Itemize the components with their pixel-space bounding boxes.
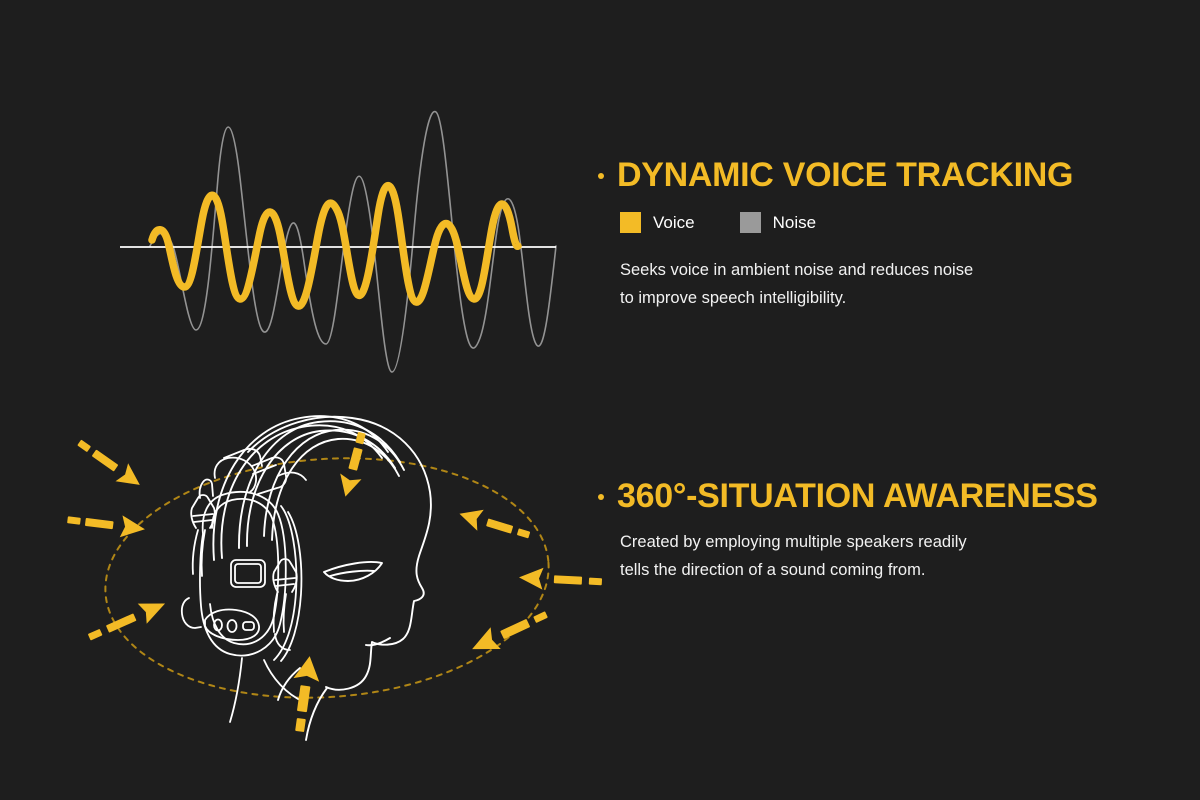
voice-wave [152,186,518,306]
legend-item-voice: Voice [620,212,695,233]
headset-headband [213,416,404,560]
bullet-dot-icon [598,173,604,179]
legend-label-voice: Voice [653,214,695,231]
voice-swatch-icon [620,212,641,233]
arrow-lower-left [85,593,170,647]
bullet-dot-icon [598,494,604,500]
feature-dynamic-voice-tracking: DYNAMIC VOICE TRACKING Voice Noise Seeks… [598,158,1158,312]
feature-2-title: 360°-SITUATION AWARENESS [617,479,1098,513]
feature-2-heading-row: 360°-SITUATION AWARENESS [598,479,1158,513]
legend-label-noise: Noise [773,214,816,231]
headset-360-illustration [0,0,1200,800]
arrow-left-upper [66,509,146,540]
arrow-top-left [73,433,146,493]
arrow-upper-right [456,503,532,545]
noise-swatch-icon [740,212,761,233]
legend-item-noise: Noise [740,212,816,233]
orbit-ellipse [97,444,557,712]
arrow-top [335,430,373,499]
feature-2-description-line-1: Created by employing multiple speakers r… [620,529,1158,557]
feature-1-heading-row: DYNAMIC VOICE TRACKING [598,158,1158,192]
feature-1-description-line-2: to improve speech intelligibility. [620,285,1158,313]
feature-1-description: Seeks voice in ambient noise and reduces… [620,257,1158,312]
arrow-right [518,566,602,592]
feature-1-description-line-1: Seeks voice in ambient noise and reduces… [620,257,1158,285]
feature-1-title: DYNAMIC VOICE TRACKING [617,158,1073,192]
noise-wave [150,112,556,372]
headset-earcup [182,449,306,722]
direction-arrows [66,430,602,733]
waveform-legend: Voice Noise [620,212,1158,233]
head-profile-outline [248,417,431,740]
feature-360-situation-awareness: 360°-SITUATION AWARENESS Created by empl… [598,479,1158,584]
waveform-illustration [0,0,1200,800]
feature-2-description-line-2: tells the direction of a sound coming fr… [620,557,1158,585]
arrow-lower-right [467,604,551,660]
infographic-page: DYNAMIC VOICE TRACKING Voice Noise Seeks… [0,0,1200,800]
feature-2-description: Created by employing multiple speakers r… [620,529,1158,584]
arrow-bottom [286,654,322,733]
